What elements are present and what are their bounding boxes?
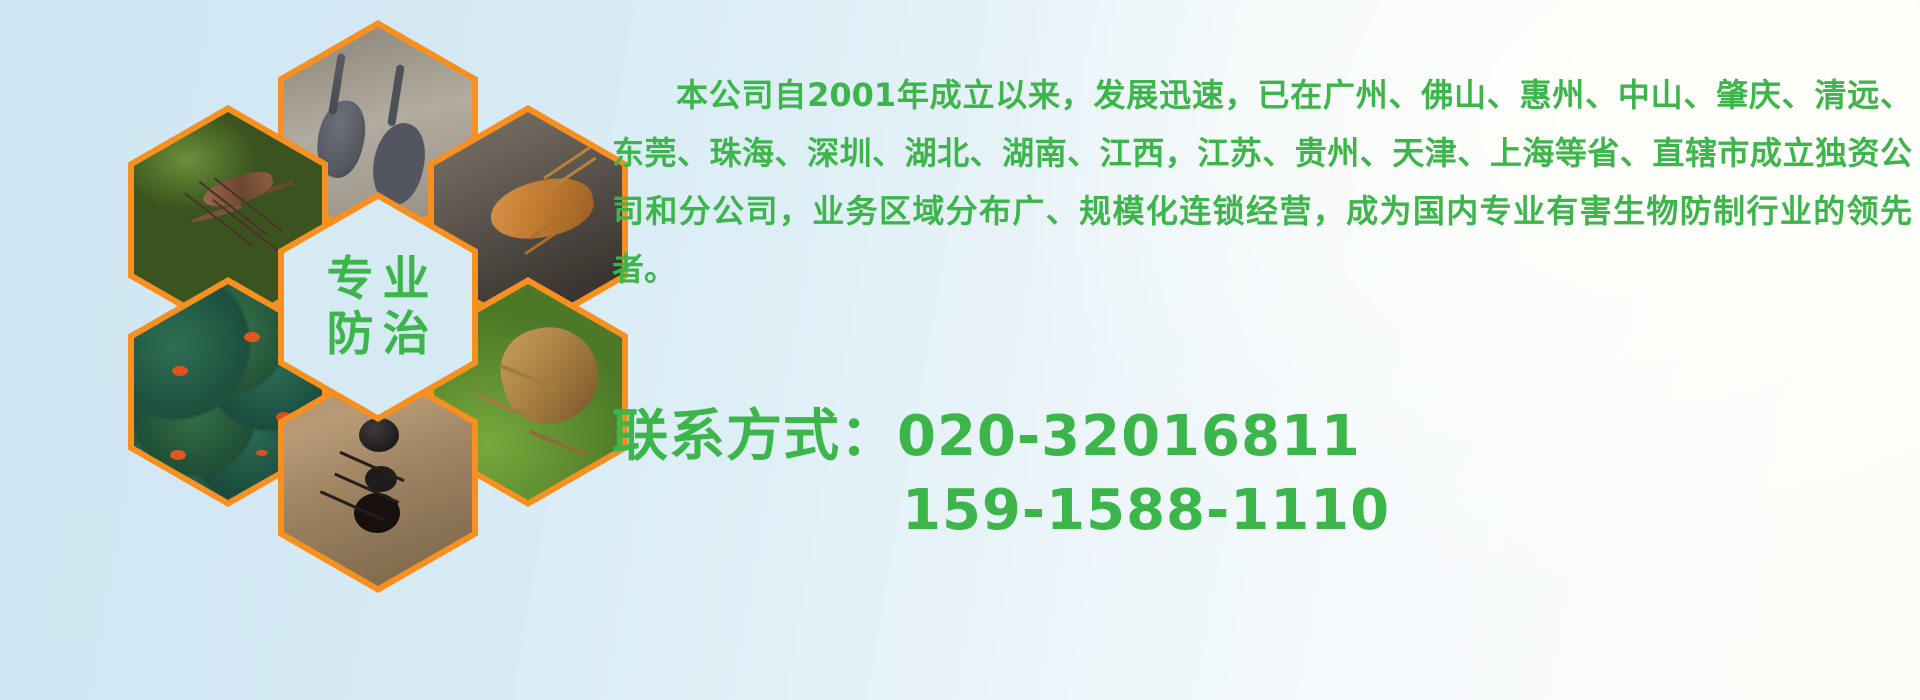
slogan-text-block: 专业 防治 [284,199,472,415]
contact-block: 联系方式：020-32016811 159-1588-1110 [612,400,1912,548]
contact-landline-line[interactable]: 联系方式：020-32016811 [612,400,1912,474]
slogan-line-1: 专业 [318,256,439,303]
hexagon-photo-cluster: 专业 防治 [95,0,575,560]
promo-banner: 专业 防治 本公司自2001年成立以来，发展迅速，已在广州、佛山、惠州、中山、肇… [0,0,1920,700]
hexagon-slogan-inner: 专业 防治 [284,199,472,415]
slogan-line-2: 防治 [318,311,439,358]
contact-mobile-line[interactable]: 159-1588-1110 [612,474,1912,548]
company-description-text: 本公司自2001年成立以来，发展迅速，已在广州、佛山、惠州、中山、肇庆、清远、东… [612,66,1912,298]
company-description-block: 本公司自2001年成立以来，发展迅速，已在广州、佛山、惠州、中山、肇庆、清远、东… [612,34,1912,330]
